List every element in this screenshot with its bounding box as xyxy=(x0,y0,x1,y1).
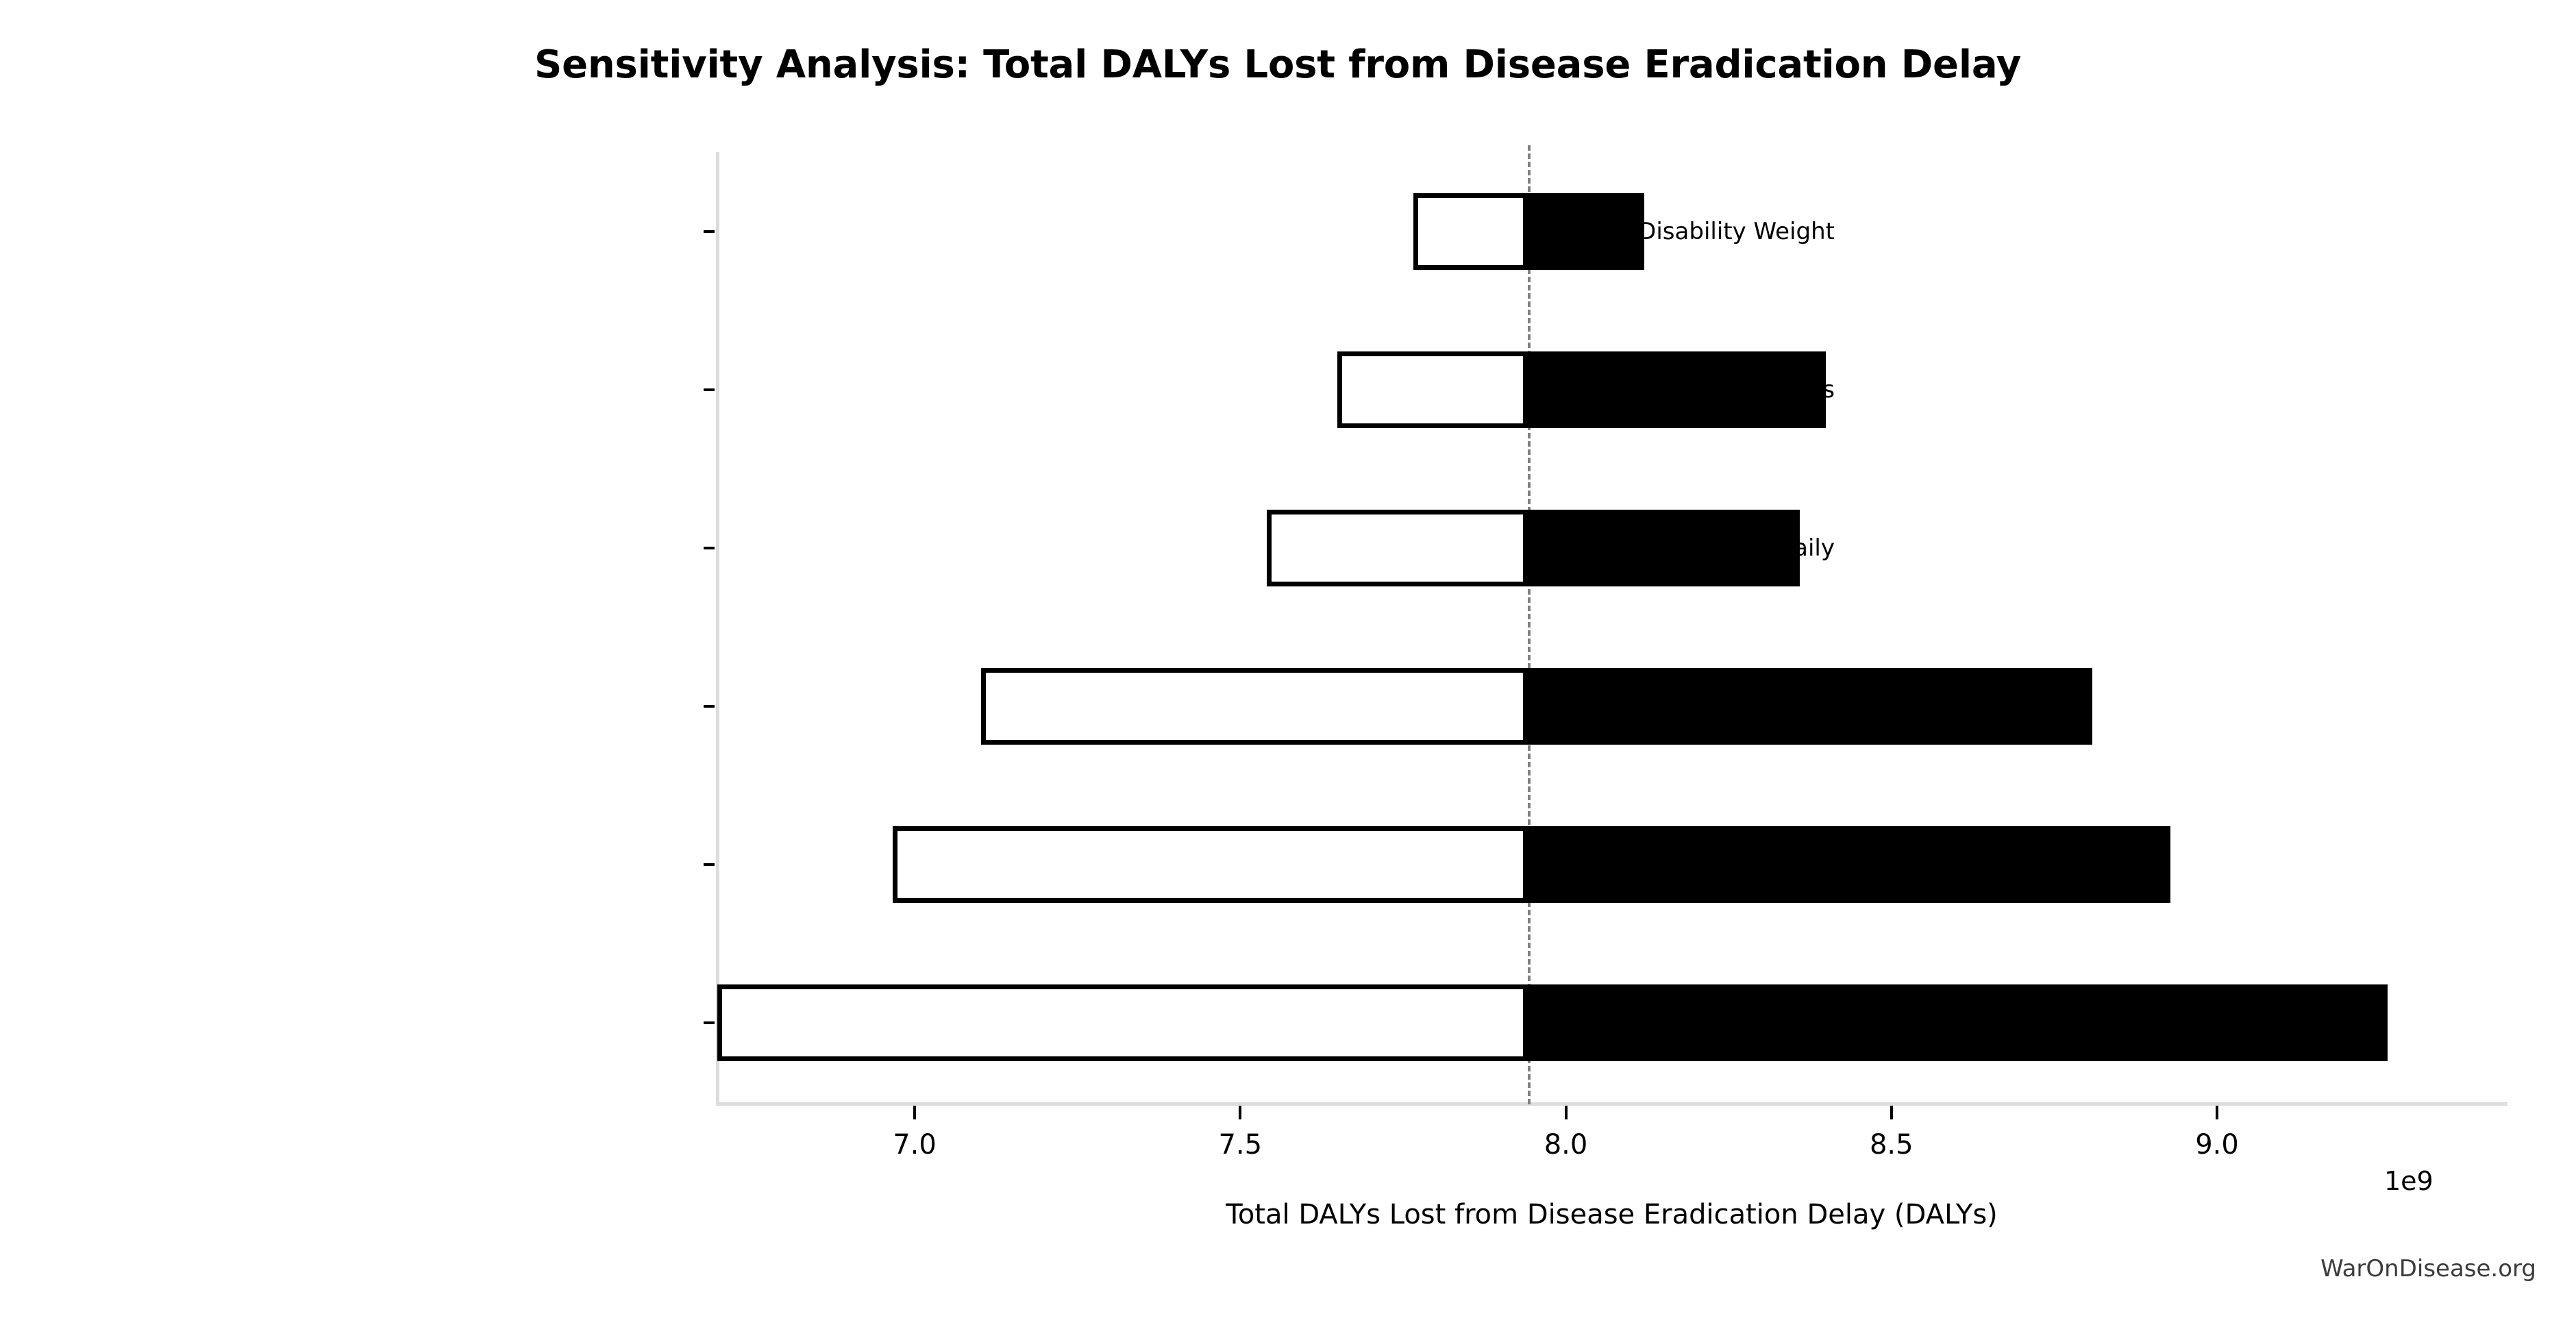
baseline-reference-line xyxy=(1528,145,1531,1104)
x-axis-tick-mark xyxy=(1565,1106,1568,1119)
x-axis-tick-mark xyxy=(913,1106,916,1119)
x-axis-tick-label: 7.0 xyxy=(893,1129,937,1161)
bar-segment-low xyxy=(893,826,1528,903)
tornado-bar-row xyxy=(716,351,2507,428)
bar-segment-low xyxy=(1267,510,1528,586)
tornado-bar-row xyxy=(716,826,2507,903)
x-axis-tick-label: 7.5 xyxy=(1218,1129,1262,1161)
x-axis-tick-mark xyxy=(1890,1106,1893,1119)
axis-spine-bottom xyxy=(716,1102,2507,1106)
y-axis-tick-mark xyxy=(704,547,715,549)
tornado-bar-row xyxy=(716,510,2507,586)
bar-segment-high xyxy=(1528,826,2170,903)
x-axis-tick-mark xyxy=(1239,1106,1241,1119)
y-axis-tick-mark xyxy=(704,863,715,866)
bar-segment-high xyxy=(1528,193,1644,270)
bar-segment-high xyxy=(1528,351,1825,428)
x-axis-tick-label: 8.0 xyxy=(1544,1129,1588,1161)
bar-segment-low xyxy=(1413,193,1528,270)
x-axis-tick-label: 8.5 xyxy=(1870,1129,1914,1161)
x-axis-tick-label: 9.0 xyxy=(2195,1129,2239,1161)
bar-segment-high xyxy=(1528,984,2388,1061)
axis-spine-left xyxy=(716,152,719,1102)
tornado-bar-row xyxy=(716,984,2507,1061)
bar-segment-low xyxy=(717,984,1528,1061)
x-axis-label: Total DALYs Lost from Disease Eradicatio… xyxy=(716,1199,2507,1230)
page-title: Sensitivity Analysis: Total DALYs Lost f… xyxy=(0,42,2576,87)
y-axis-tick-mark xyxy=(704,230,715,233)
y-axis-tick-mark xyxy=(704,705,715,708)
x-axis-tick-mark xyxy=(2216,1106,2218,1119)
bar-segment-low xyxy=(1337,351,1528,428)
bar-segment-high xyxy=(1528,668,2092,745)
x-axis-exponent-offset: 1e9 xyxy=(2384,1166,2433,1196)
watermark: WarOnDisease.org xyxy=(2320,1255,2536,1282)
bar-segment-low xyxy=(981,668,1528,745)
bar-segment-high xyxy=(1528,510,1799,586)
tornado-bar-row xyxy=(716,193,2507,270)
chart-figure: Sensitivity Analysis: Total DALYs Lost f… xyxy=(0,0,2576,1340)
y-axis-tick-mark xyxy=(704,1021,715,1024)
tornado-bar-row xyxy=(716,668,2507,745)
plot-area xyxy=(716,152,2507,1102)
y-axis-tick-mark xyxy=(704,388,715,391)
